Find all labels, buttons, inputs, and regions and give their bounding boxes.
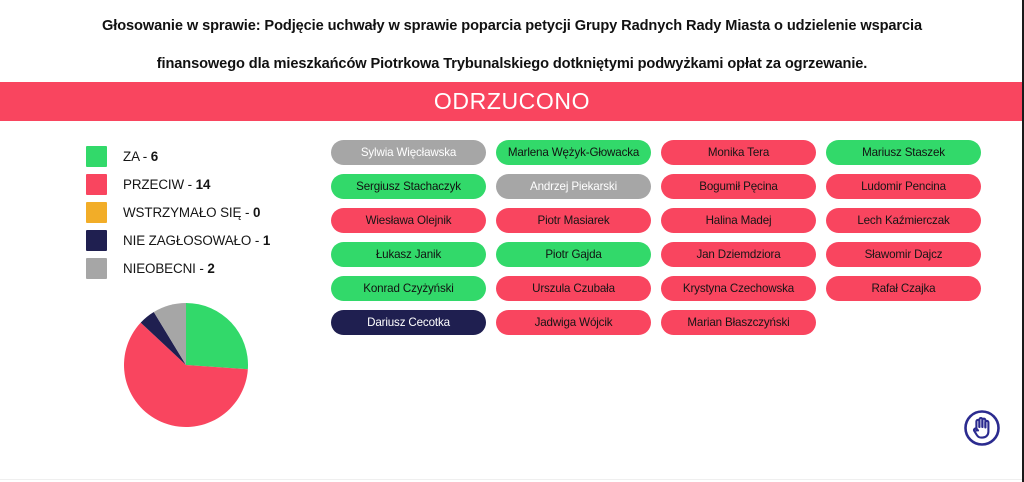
councillor-chip[interactable]: Jadwiga Wójcik xyxy=(496,310,651,335)
councillor-chip[interactable]: Lech Kaźmierczak xyxy=(826,208,981,233)
councillor-chip[interactable]: Piotr Gajda xyxy=(496,242,651,267)
vote-title: Głosowanie w sprawie: Podjęcie uchwały w… xyxy=(0,0,1024,82)
councillor-chip[interactable]: Sylwia Więcławska xyxy=(331,140,486,165)
councillor-chip[interactable]: Piotr Masiarek xyxy=(496,208,651,233)
vote-result-label: ODRZUCONO xyxy=(434,90,590,113)
vote-result-banner: ODRZUCONO xyxy=(0,82,1024,121)
legend-swatch xyxy=(86,202,107,223)
legend-row: PRZECIW - 14 xyxy=(86,170,336,198)
councillor-chip[interactable]: Ludomir Pencina xyxy=(826,174,981,199)
legend-label: NIEOBECNI - 2 xyxy=(123,261,215,276)
councillor-chip[interactable]: Andrzej Piekarski xyxy=(496,174,651,199)
councillor-chip[interactable]: Halina Madej xyxy=(661,208,816,233)
legend-count: 1 xyxy=(263,233,270,248)
councillor-chip[interactable]: Wiesława Olejnik xyxy=(331,208,486,233)
legend-swatch xyxy=(86,258,107,279)
councillor-chip[interactable]: Urszula Czubała xyxy=(496,276,651,301)
legend-label: WSTRZYMAŁO SIĘ - 0 xyxy=(123,205,260,220)
vote-result-page: Głosowanie w sprawie: Podjęcie uchwały w… xyxy=(0,0,1024,482)
legend-label: NIE ZAGŁOSOWAŁO - 1 xyxy=(123,233,270,248)
raised-hand-icon[interactable] xyxy=(962,408,1002,448)
councillor-chip[interactable]: Rafał Czajka xyxy=(826,276,981,301)
legend-swatch xyxy=(86,146,107,167)
vote-title-line-1: Głosowanie w sprawie: Podjęcie uchwały w… xyxy=(22,19,1002,34)
vote-legend: ZA - 6PRZECIW - 14WSTRZYMAŁO SIĘ - 0NIE … xyxy=(86,142,336,282)
councillor-chip[interactable]: Marlena Wężyk-Głowacka xyxy=(496,140,651,165)
councillor-chip[interactable]: Marian Błaszczyński xyxy=(661,310,816,335)
legend-count: 14 xyxy=(196,177,211,192)
councillor-chip[interactable]: Sergiusz Stachaczyk xyxy=(331,174,486,199)
councillor-chip[interactable]: Mariusz Staszek xyxy=(826,140,981,165)
councillor-chip[interactable]: Monika Tera xyxy=(661,140,816,165)
councillor-chip[interactable]: Krystyna Czechowska xyxy=(661,276,816,301)
councillor-chip[interactable]: Jan Dziemdziora xyxy=(661,242,816,267)
chip-placeholder xyxy=(826,310,981,335)
legend-row: NIEOBECNI - 2 xyxy=(86,254,336,282)
councillor-chip[interactable]: Bogumił Pęcina xyxy=(661,174,816,199)
vote-title-line-2: finansowego dla mieszkańców Piotrkowa Tr… xyxy=(22,57,1002,72)
legend-swatch xyxy=(86,230,107,251)
bottom-divider xyxy=(0,479,1024,480)
councillor-chip[interactable]: Łukasz Janik xyxy=(331,242,486,267)
legend-count: 2 xyxy=(207,261,214,276)
legend-swatch xyxy=(86,174,107,195)
legend-count: 6 xyxy=(151,149,158,164)
pie-slice xyxy=(186,303,248,369)
councillor-chip[interactable]: Dariusz Cecotka xyxy=(331,310,486,335)
councillor-chip-grid: Sylwia WięcławskaMarlena Wężyk-GłowackaM… xyxy=(331,140,1001,335)
legend-count: 0 xyxy=(253,205,260,220)
councillor-chip[interactable]: Sławomir Dajcz xyxy=(826,242,981,267)
legend-row: WSTRZYMAŁO SIĘ - 0 xyxy=(86,198,336,226)
legend-label: PRZECIW - 14 xyxy=(123,177,210,192)
legend-row: NIE ZAGŁOSOWAŁO - 1 xyxy=(86,226,336,254)
legend-row: ZA - 6 xyxy=(86,142,336,170)
councillor-chip[interactable]: Konrad Czyżyński xyxy=(331,276,486,301)
legend-label: ZA - 6 xyxy=(123,149,158,164)
vote-pie-chart xyxy=(124,303,248,427)
